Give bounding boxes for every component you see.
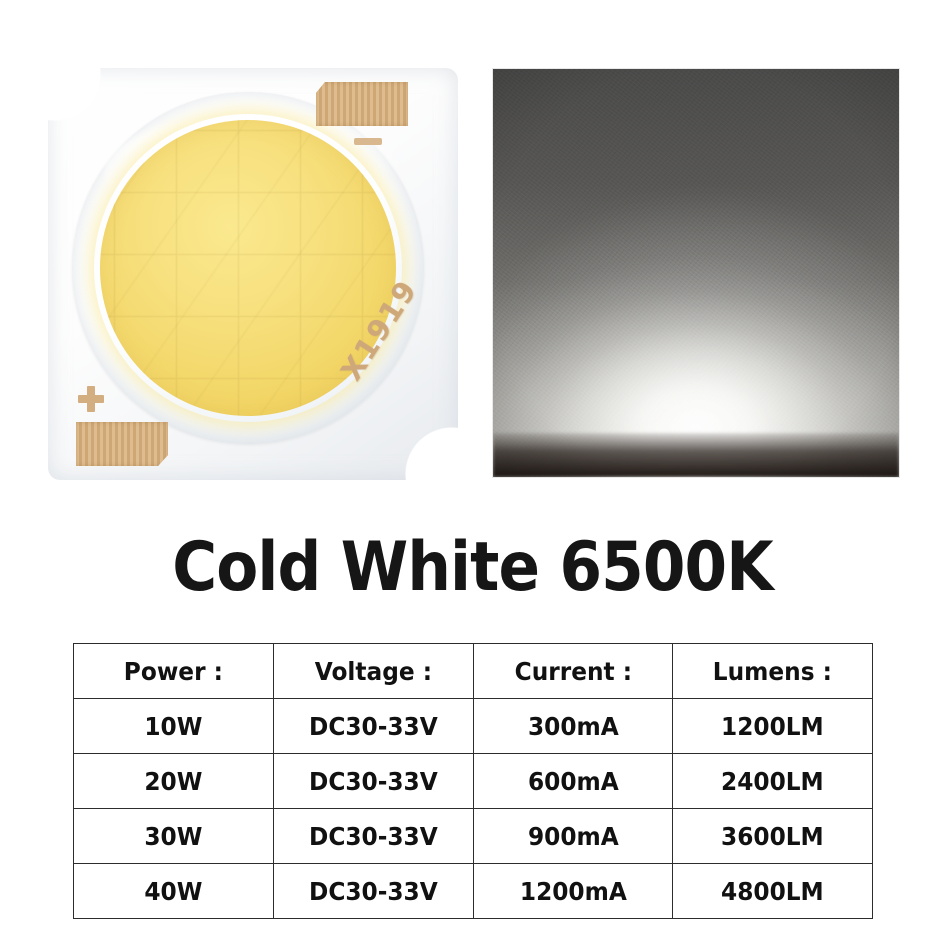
cell-power: 10W <box>74 699 274 754</box>
chip-ceramic-substrate: X1919 <box>48 68 458 480</box>
cell-lumens: 2400LM <box>673 754 873 809</box>
light-beam-photo <box>492 68 900 478</box>
column-header-voltage: Voltage : <box>273 644 473 699</box>
cell-current: 900mA <box>473 809 673 864</box>
solder-pad-bottom-left <box>76 422 168 466</box>
cell-voltage: DC30-33V <box>273 699 473 754</box>
cell-voltage: DC30-33V <box>273 864 473 919</box>
table-header-row: Power : Voltage : Current : Lumens : <box>74 644 873 699</box>
cell-power: 40W <box>74 864 274 919</box>
polarity-negative-marker-icon <box>354 138 382 145</box>
cell-lumens: 4800LM <box>673 864 873 919</box>
product-photo-row: X1919 <box>0 0 945 500</box>
color-temperature-title: Cold White 6500K <box>47 528 898 607</box>
cell-lumens: 1200LM <box>673 699 873 754</box>
polarity-positive-marker-icon <box>78 386 104 412</box>
solder-pad-top-right <box>316 82 408 126</box>
cell-power: 30W <box>74 809 274 864</box>
specification-table: Power : Voltage : Current : Lumens : 10W… <box>73 643 873 919</box>
cell-current: 1200mA <box>473 864 673 919</box>
led-cob-chip-photo: X1919 <box>48 68 458 480</box>
cell-voltage: DC30-33V <box>273 754 473 809</box>
cell-power: 20W <box>74 754 274 809</box>
cell-lumens: 3600LM <box>673 809 873 864</box>
cell-current: 300mA <box>473 699 673 754</box>
column-header-power: Power : <box>74 644 274 699</box>
cell-current: 600mA <box>473 754 673 809</box>
table-row: 40W DC30-33V 1200mA 4800LM <box>74 864 873 919</box>
column-header-current: Current : <box>473 644 673 699</box>
beam-vignette <box>493 69 899 477</box>
table-row: 30W DC30-33V 900mA 3600LM <box>74 809 873 864</box>
cell-voltage: DC30-33V <box>273 809 473 864</box>
column-header-lumens: Lumens : <box>673 644 873 699</box>
table-row: 10W DC30-33V 300mA 1200LM <box>74 699 873 754</box>
table-row: 20W DC30-33V 600mA 2400LM <box>74 754 873 809</box>
